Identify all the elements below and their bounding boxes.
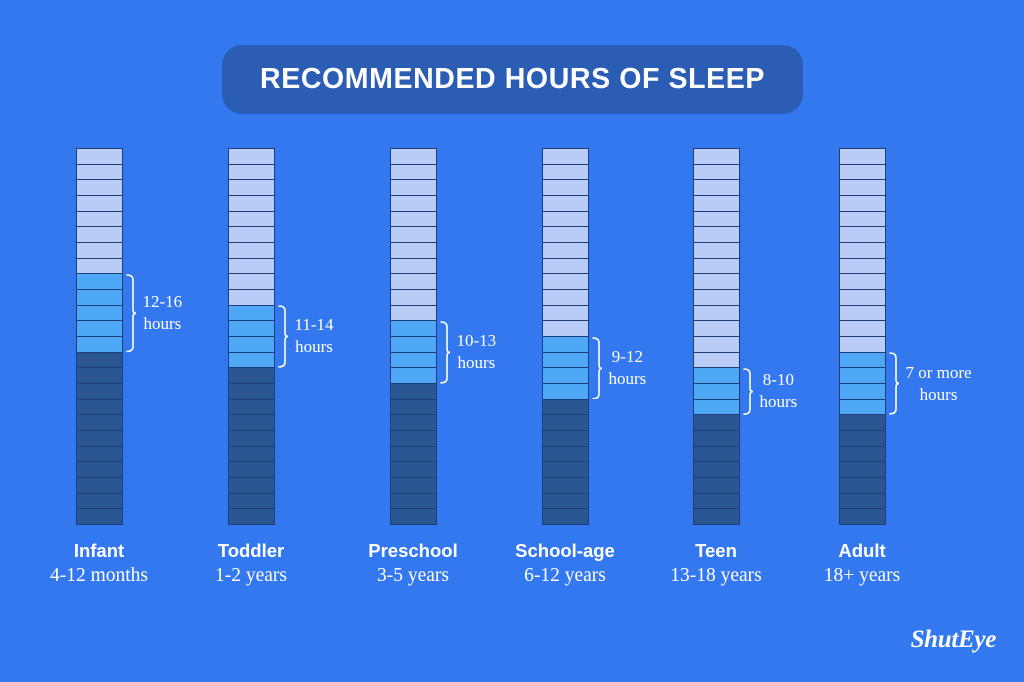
sleep-bar bbox=[693, 148, 740, 525]
age-range-label: 4-12 months bbox=[24, 563, 174, 589]
hour-segment-light bbox=[390, 211, 437, 227]
hour-segment-bright bbox=[390, 367, 437, 383]
hour-segment-light bbox=[390, 273, 437, 289]
hour-segment-light bbox=[839, 305, 886, 321]
hour-segment-light bbox=[693, 211, 740, 227]
hour-segment-dark bbox=[542, 414, 589, 430]
hour-segment-dark bbox=[76, 367, 123, 383]
column-labels: Adult18+ years bbox=[787, 539, 937, 589]
hour-segment-dark bbox=[390, 446, 437, 462]
hour-segment-light bbox=[839, 226, 886, 242]
hour-segment-dark bbox=[693, 430, 740, 446]
hour-segment-bright bbox=[228, 352, 275, 368]
hour-segment-dark bbox=[390, 493, 437, 509]
hour-segment-light bbox=[228, 258, 275, 274]
age-range-label: 1-2 years bbox=[176, 563, 326, 589]
hour-segment-light bbox=[228, 242, 275, 258]
hour-segment-dark bbox=[839, 508, 886, 525]
hour-segment-light bbox=[839, 336, 886, 352]
hour-segment-dark bbox=[542, 446, 589, 462]
hour-segment-light bbox=[693, 195, 740, 211]
hour-segment-dark bbox=[76, 477, 123, 493]
hour-segment-dark bbox=[839, 477, 886, 493]
hour-segment-dark bbox=[693, 461, 740, 477]
hour-segment-light bbox=[693, 164, 740, 180]
hour-segment-light bbox=[76, 179, 123, 195]
sleep-bar bbox=[228, 148, 275, 525]
hour-segment-dark bbox=[76, 446, 123, 462]
hour-segment-light bbox=[390, 164, 437, 180]
hour-segment-light bbox=[228, 148, 275, 164]
hour-segment-light bbox=[693, 258, 740, 274]
hour-segment-bright bbox=[76, 273, 123, 289]
hour-segment-dark bbox=[693, 493, 740, 509]
hour-segment-bright bbox=[228, 320, 275, 336]
hour-segment-light bbox=[542, 273, 589, 289]
hour-segment-light bbox=[542, 226, 589, 242]
hour-segment-light bbox=[76, 211, 123, 227]
hour-segment-light bbox=[693, 179, 740, 195]
hour-segment-dark bbox=[839, 461, 886, 477]
hour-segment-bright bbox=[390, 352, 437, 368]
hour-segment-dark bbox=[76, 493, 123, 509]
age-group-label: Toddler bbox=[176, 539, 326, 563]
chart-column-teen: Teen13-18 years bbox=[641, 148, 791, 589]
hour-segment-light bbox=[542, 258, 589, 274]
hour-segment-dark bbox=[542, 461, 589, 477]
hour-segment-bright bbox=[693, 383, 740, 399]
hour-segment-dark bbox=[390, 477, 437, 493]
hour-segment-dark bbox=[693, 477, 740, 493]
hour-segment-light bbox=[228, 164, 275, 180]
hour-segment-light bbox=[693, 226, 740, 242]
hour-segment-dark bbox=[693, 446, 740, 462]
hour-segment-bright bbox=[839, 367, 886, 383]
hour-segment-light bbox=[839, 195, 886, 211]
hour-segment-light bbox=[390, 242, 437, 258]
hour-segment-dark bbox=[76, 430, 123, 446]
hour-segment-dark bbox=[76, 461, 123, 477]
brand-logo: ShutEye bbox=[911, 626, 996, 654]
hour-segment-light bbox=[390, 226, 437, 242]
hour-segment-light bbox=[228, 179, 275, 195]
hour-segment-bright bbox=[228, 305, 275, 321]
hour-segment-dark bbox=[390, 430, 437, 446]
hour-segment-bright bbox=[542, 352, 589, 368]
column-labels: School-age6-12 years bbox=[490, 539, 640, 589]
title-banner: RECOMMENDED HOURS OF SLEEP bbox=[222, 45, 803, 114]
hour-segment-dark bbox=[839, 414, 886, 430]
hour-segment-dark bbox=[76, 399, 123, 415]
hour-segment-light bbox=[542, 164, 589, 180]
hour-segment-light bbox=[76, 148, 123, 164]
hour-segment-bright bbox=[76, 336, 123, 352]
hour-segment-dark bbox=[228, 430, 275, 446]
column-labels: Toddler1-2 years bbox=[176, 539, 326, 589]
hour-segment-dark bbox=[228, 414, 275, 430]
hour-segment-light bbox=[228, 195, 275, 211]
sleep-infographic: RECOMMENDED HOURS OF SLEEP Infant4-12 mo… bbox=[0, 0, 1024, 682]
age-range-label: 18+ years bbox=[787, 563, 937, 589]
hour-segment-dark bbox=[228, 508, 275, 525]
hour-segment-light bbox=[693, 242, 740, 258]
hour-segment-dark bbox=[693, 414, 740, 430]
sleep-bar bbox=[542, 148, 589, 525]
hour-segment-bright bbox=[390, 336, 437, 352]
age-range-label: 6-12 years bbox=[490, 563, 640, 589]
hour-segment-bright bbox=[228, 336, 275, 352]
hour-segment-dark bbox=[839, 493, 886, 509]
hour-segment-bright bbox=[839, 352, 886, 368]
hour-segment-light bbox=[693, 320, 740, 336]
hour-segment-light bbox=[76, 226, 123, 242]
hour-segment-light bbox=[390, 305, 437, 321]
hour-segment-bright bbox=[839, 383, 886, 399]
hour-segment-light bbox=[693, 273, 740, 289]
hour-segment-dark bbox=[76, 352, 123, 368]
column-labels: Infant4-12 months bbox=[24, 539, 174, 589]
hour-segment-dark bbox=[542, 430, 589, 446]
hour-segment-light bbox=[542, 320, 589, 336]
hour-segment-light bbox=[76, 164, 123, 180]
hour-segment-dark bbox=[839, 446, 886, 462]
hour-segment-light bbox=[390, 195, 437, 211]
hour-segment-dark bbox=[228, 367, 275, 383]
age-range-label: 3-5 years bbox=[338, 563, 488, 589]
hour-segment-dark bbox=[390, 399, 437, 415]
page-title: RECOMMENDED HOURS OF SLEEP bbox=[260, 63, 765, 96]
hour-segment-light bbox=[839, 179, 886, 195]
hour-segment-light bbox=[839, 289, 886, 305]
hour-segment-light bbox=[839, 320, 886, 336]
hour-segment-light bbox=[228, 226, 275, 242]
hour-segment-bright bbox=[76, 320, 123, 336]
age-group-label: School-age bbox=[490, 539, 640, 563]
hour-segment-light bbox=[76, 242, 123, 258]
chart-columns: Infant4-12 months12-16hoursToddler1-2 ye… bbox=[0, 148, 1024, 598]
hour-segment-light bbox=[542, 195, 589, 211]
hour-segment-dark bbox=[390, 508, 437, 525]
chart-column-infant: Infant4-12 months bbox=[24, 148, 174, 589]
hour-segment-dark bbox=[76, 414, 123, 430]
hour-segment-light bbox=[693, 352, 740, 368]
hour-segment-light bbox=[76, 195, 123, 211]
age-group-label: Preschool bbox=[338, 539, 488, 563]
hour-segment-light bbox=[542, 148, 589, 164]
hour-segment-light bbox=[839, 258, 886, 274]
hour-segment-dark bbox=[228, 446, 275, 462]
age-group-label: Adult bbox=[787, 539, 937, 563]
age-range-label: 13-18 years bbox=[641, 563, 791, 589]
sleep-bar bbox=[839, 148, 886, 525]
hour-segment-light bbox=[542, 211, 589, 227]
column-labels: Preschool3-5 years bbox=[338, 539, 488, 589]
hour-segment-dark bbox=[228, 383, 275, 399]
hour-segment-dark bbox=[76, 508, 123, 525]
hour-segment-dark bbox=[228, 461, 275, 477]
hour-segment-bright bbox=[542, 336, 589, 352]
hour-segment-dark bbox=[542, 399, 589, 415]
hour-segment-light bbox=[693, 336, 740, 352]
chart-column-preschool: Preschool3-5 years bbox=[338, 148, 488, 589]
hour-segment-bright bbox=[839, 399, 886, 415]
hour-segment-light bbox=[542, 305, 589, 321]
hour-segment-dark bbox=[390, 461, 437, 477]
hour-segment-light bbox=[839, 164, 886, 180]
hour-segment-dark bbox=[693, 508, 740, 525]
hour-segment-dark bbox=[228, 493, 275, 509]
hour-segment-light bbox=[542, 289, 589, 305]
chart-column-school-age: School-age6-12 years bbox=[490, 148, 640, 589]
hour-segment-bright bbox=[693, 399, 740, 415]
hour-segment-light bbox=[390, 148, 437, 164]
hour-segment-dark bbox=[76, 383, 123, 399]
hour-segment-dark bbox=[228, 477, 275, 493]
hour-segment-light bbox=[839, 211, 886, 227]
chart-column-adult: Adult18+ years bbox=[787, 148, 937, 589]
hour-segment-bright bbox=[542, 383, 589, 399]
age-group-label: Infant bbox=[24, 539, 174, 563]
hour-segment-bright bbox=[542, 367, 589, 383]
hour-segment-light bbox=[542, 242, 589, 258]
hour-segment-bright bbox=[76, 289, 123, 305]
chart-column-toddler: Toddler1-2 years bbox=[176, 148, 326, 589]
hour-segment-dark bbox=[390, 383, 437, 399]
hour-segment-light bbox=[390, 289, 437, 305]
hour-segment-light bbox=[839, 242, 886, 258]
hour-segment-bright bbox=[693, 367, 740, 383]
hour-segment-bright bbox=[390, 320, 437, 336]
hour-segment-light bbox=[542, 179, 589, 195]
hour-segment-light bbox=[228, 211, 275, 227]
hour-segment-dark bbox=[542, 477, 589, 493]
hour-segment-dark bbox=[228, 399, 275, 415]
hour-segment-light bbox=[693, 289, 740, 305]
hour-segment-dark bbox=[839, 430, 886, 446]
hour-segment-light bbox=[76, 258, 123, 274]
hour-segment-light bbox=[839, 148, 886, 164]
hour-segment-light bbox=[390, 179, 437, 195]
age-group-label: Teen bbox=[641, 539, 791, 563]
sleep-bar bbox=[76, 148, 123, 525]
hour-segment-dark bbox=[542, 508, 589, 525]
hour-segment-light bbox=[693, 148, 740, 164]
hour-segment-dark bbox=[390, 414, 437, 430]
hour-segment-light bbox=[228, 289, 275, 305]
hour-segment-light bbox=[390, 258, 437, 274]
hour-segment-bright bbox=[76, 305, 123, 321]
column-labels: Teen13-18 years bbox=[641, 539, 791, 589]
hour-segment-dark bbox=[542, 493, 589, 509]
sleep-bar bbox=[390, 148, 437, 525]
hour-segment-light bbox=[839, 273, 886, 289]
hour-segment-light bbox=[228, 273, 275, 289]
hour-segment-light bbox=[693, 305, 740, 321]
